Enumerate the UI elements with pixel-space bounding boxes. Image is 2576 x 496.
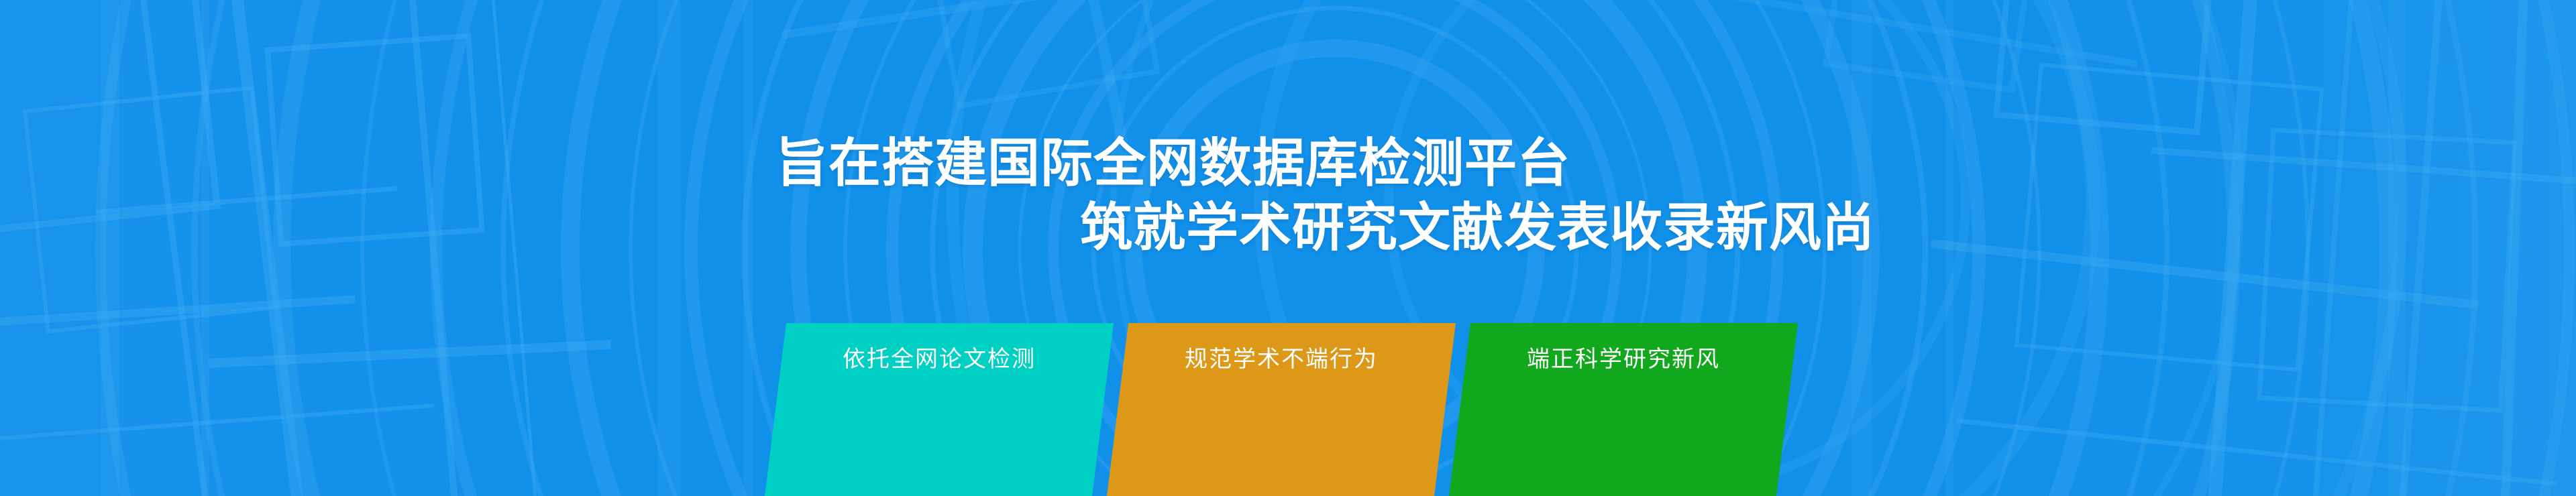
feature-tag-label: 规范学术不端行为 — [1185, 340, 1378, 373]
feature-tag-ribbon: 依托全网论文检测 规范学术不端行为 端正科学研究新风 — [0, 323, 2576, 496]
promo-banner: 旨在搭建国际全网数据库检测平台 筑就学术研究文献发表收录新风尚 依托全网论文检测… — [0, 0, 2576, 496]
feature-tag-label: 端正科学研究新风 — [1527, 340, 1720, 373]
feature-tag-gui-fan-xue-shu-bu-duan[interactable]: 规范学术不端行为 — [1107, 323, 1456, 496]
feature-tag-quan-wang-lun-wen-jian-ce[interactable]: 依托全网论文检测 — [765, 323, 1114, 496]
feature-tag-duan-zheng-ke-xue-yan-jiu[interactable]: 端正科学研究新风 — [1449, 323, 1798, 496]
feature-tag-label: 依托全网论文检测 — [843, 340, 1036, 373]
